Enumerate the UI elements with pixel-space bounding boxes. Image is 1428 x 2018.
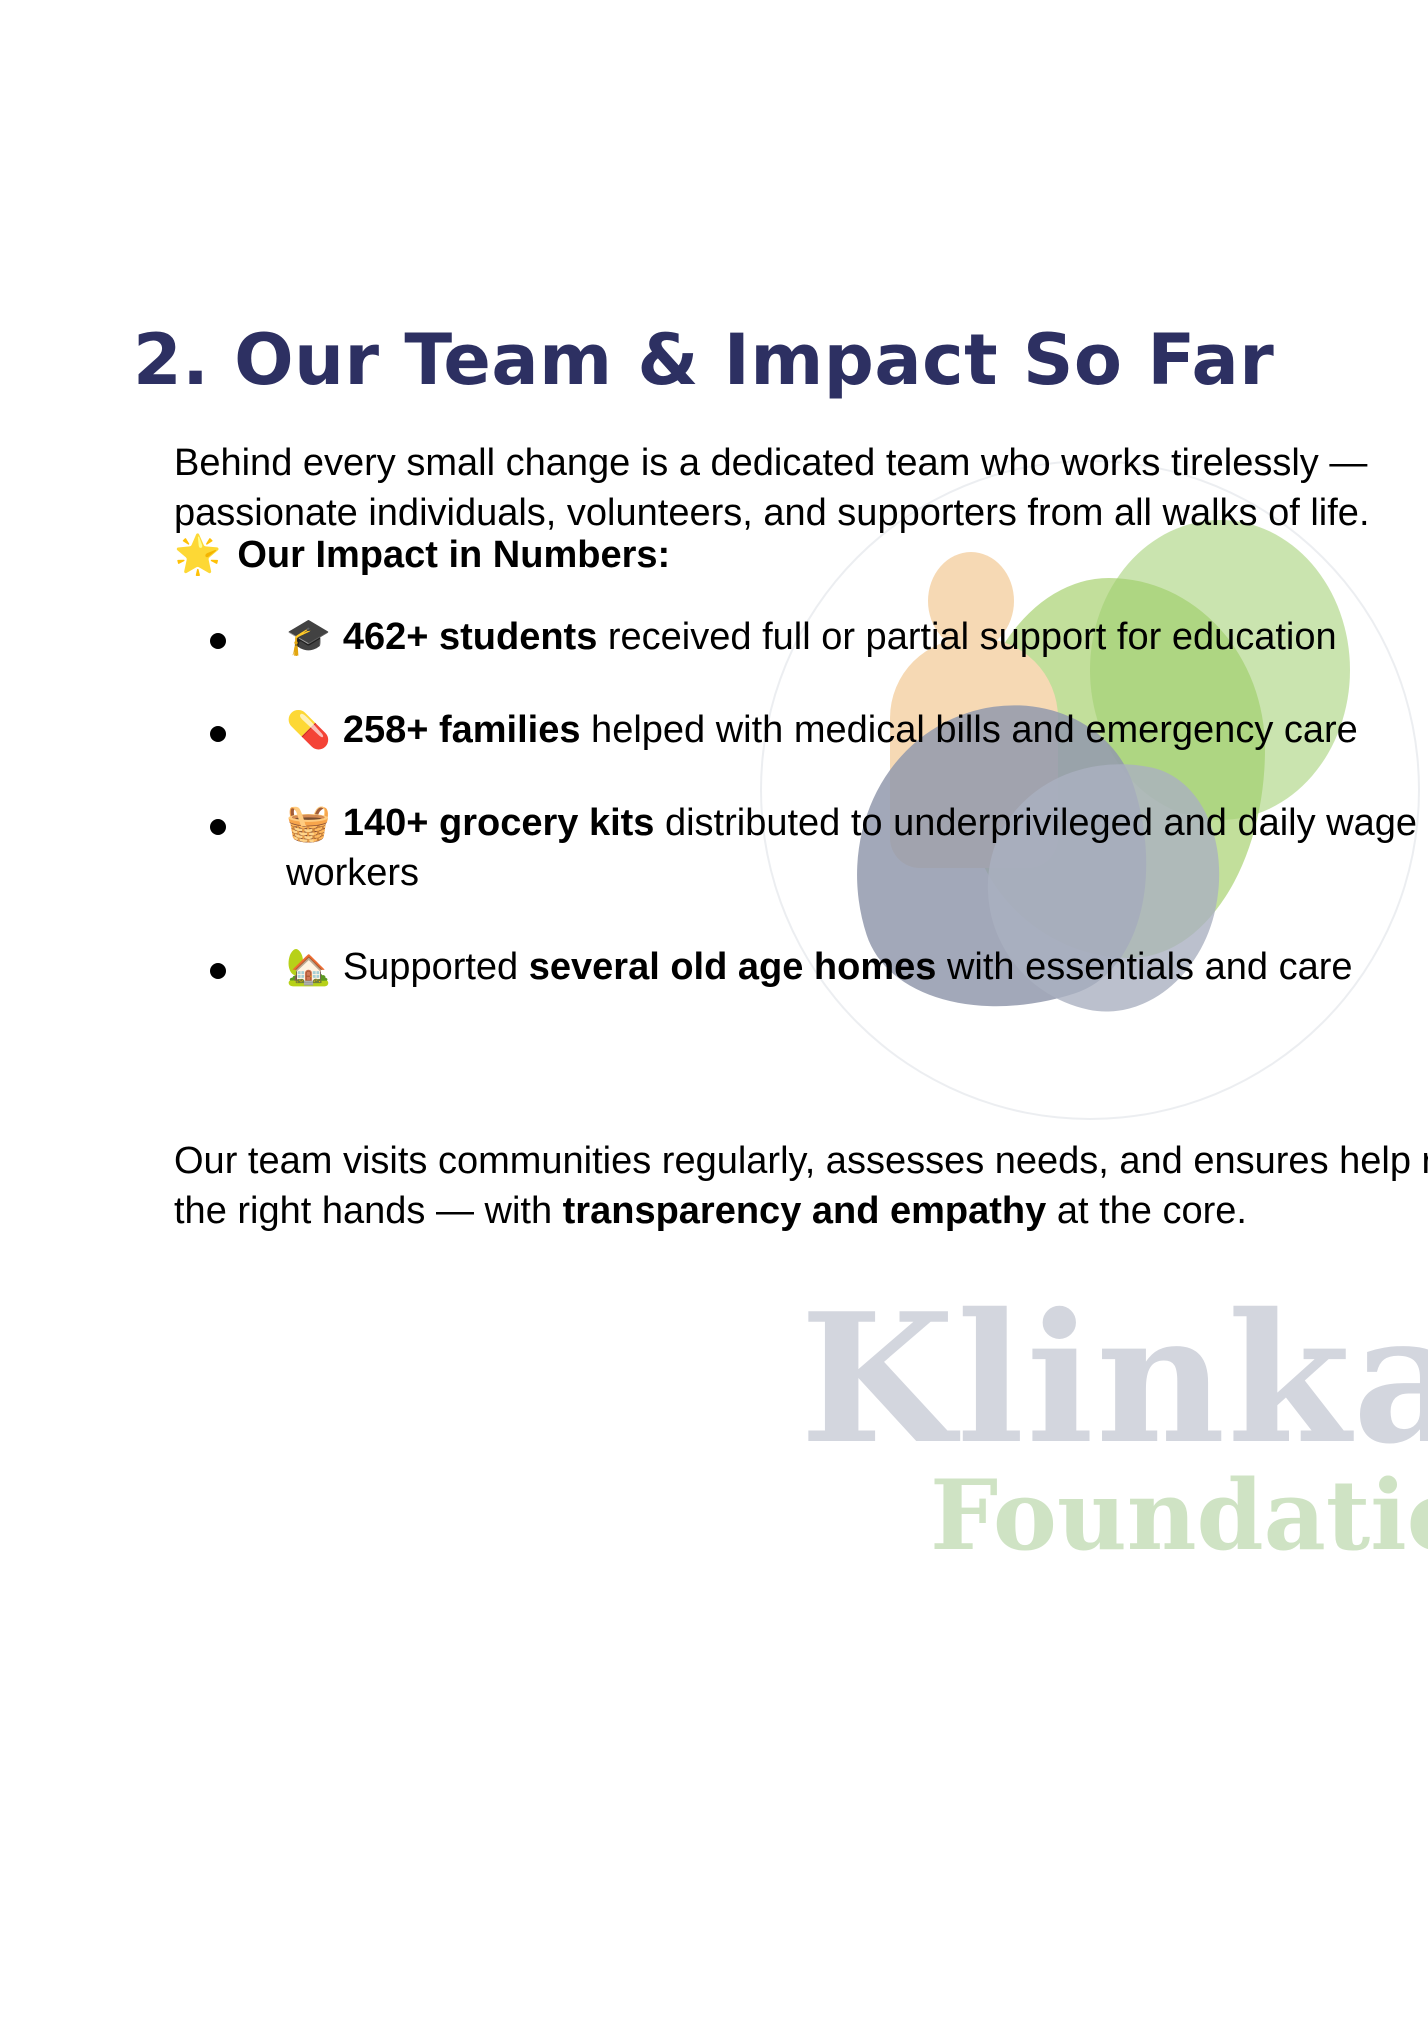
bullet-dot-icon <box>210 726 226 742</box>
list-item: 🏡Supported several old age homes with es… <box>174 942 1428 992</box>
intro-line-2: passionate individuals, volunteers, and … <box>174 488 1428 538</box>
glowing-star-emoji: 🌟 <box>174 533 221 577</box>
bullet-rest-text: helped with medical bills and emergency … <box>581 709 1358 751</box>
pill-emoji: 💊 <box>286 706 331 754</box>
closing-paragraph: Our team visits communities regularly, a… <box>174 1136 1428 1236</box>
house-with-garden-emoji: 🏡 <box>286 943 331 991</box>
list-item: 🧺140+ grocery kits distributed to underp… <box>174 798 1428 898</box>
bullet-dot-icon <box>210 963 226 979</box>
bullet-rest-text: with essentials and care <box>936 946 1352 988</box>
closing-bold-phrase: transparency and empathy <box>563 1190 1047 1232</box>
intro-paragraph: Behind every small change is a dedicated… <box>174 438 1428 538</box>
list-item: 🎓462+ students received full or partial … <box>174 612 1428 662</box>
bullet-bold-lead: several old age homes <box>529 946 937 988</box>
bullet-bold-lead: 462+ students <box>343 616 598 658</box>
bullet-prefix-text: Supported <box>343 946 529 988</box>
bullet-dot-icon <box>210 633 226 649</box>
intro-line-1: Behind every small change is a dedicated… <box>174 438 1428 488</box>
page-title: 2. Our Team & Impact So Far <box>133 319 1274 401</box>
watermark-brand-subtitle: Foundation <box>930 1468 1428 1564</box>
impact-heading-label: Our Impact in Numbers: <box>237 534 670 577</box>
closing-line-1: Our team visits communities regularly, a… <box>174 1136 1428 1186</box>
impact-section-heading: 🌟 Our Impact in Numbers: <box>174 533 670 577</box>
graduation-cap-emoji: 🎓 <box>286 613 331 661</box>
bullet-dot-icon <box>210 819 226 835</box>
impact-bullet-list: 🎓462+ students received full or partial … <box>174 612 1428 1035</box>
bullet-rest-text: received full or partial support for edu… <box>597 616 1336 658</box>
watermark-brand-text: Klinkara <box>800 1290 1428 1468</box>
closing-line-2: the right hands — with transparency and … <box>174 1186 1428 1236</box>
closing-line-2-tail: at the core. <box>1046 1190 1247 1232</box>
list-item: 💊258+ families helped with medical bills… <box>174 705 1428 755</box>
bullet-bold-lead: 140+ grocery kits <box>343 802 655 844</box>
closing-line-2-lead: the right hands — with <box>174 1190 563 1232</box>
bullet-bold-lead: 258+ families <box>343 709 581 751</box>
basket-emoji: 🧺 <box>286 799 331 847</box>
